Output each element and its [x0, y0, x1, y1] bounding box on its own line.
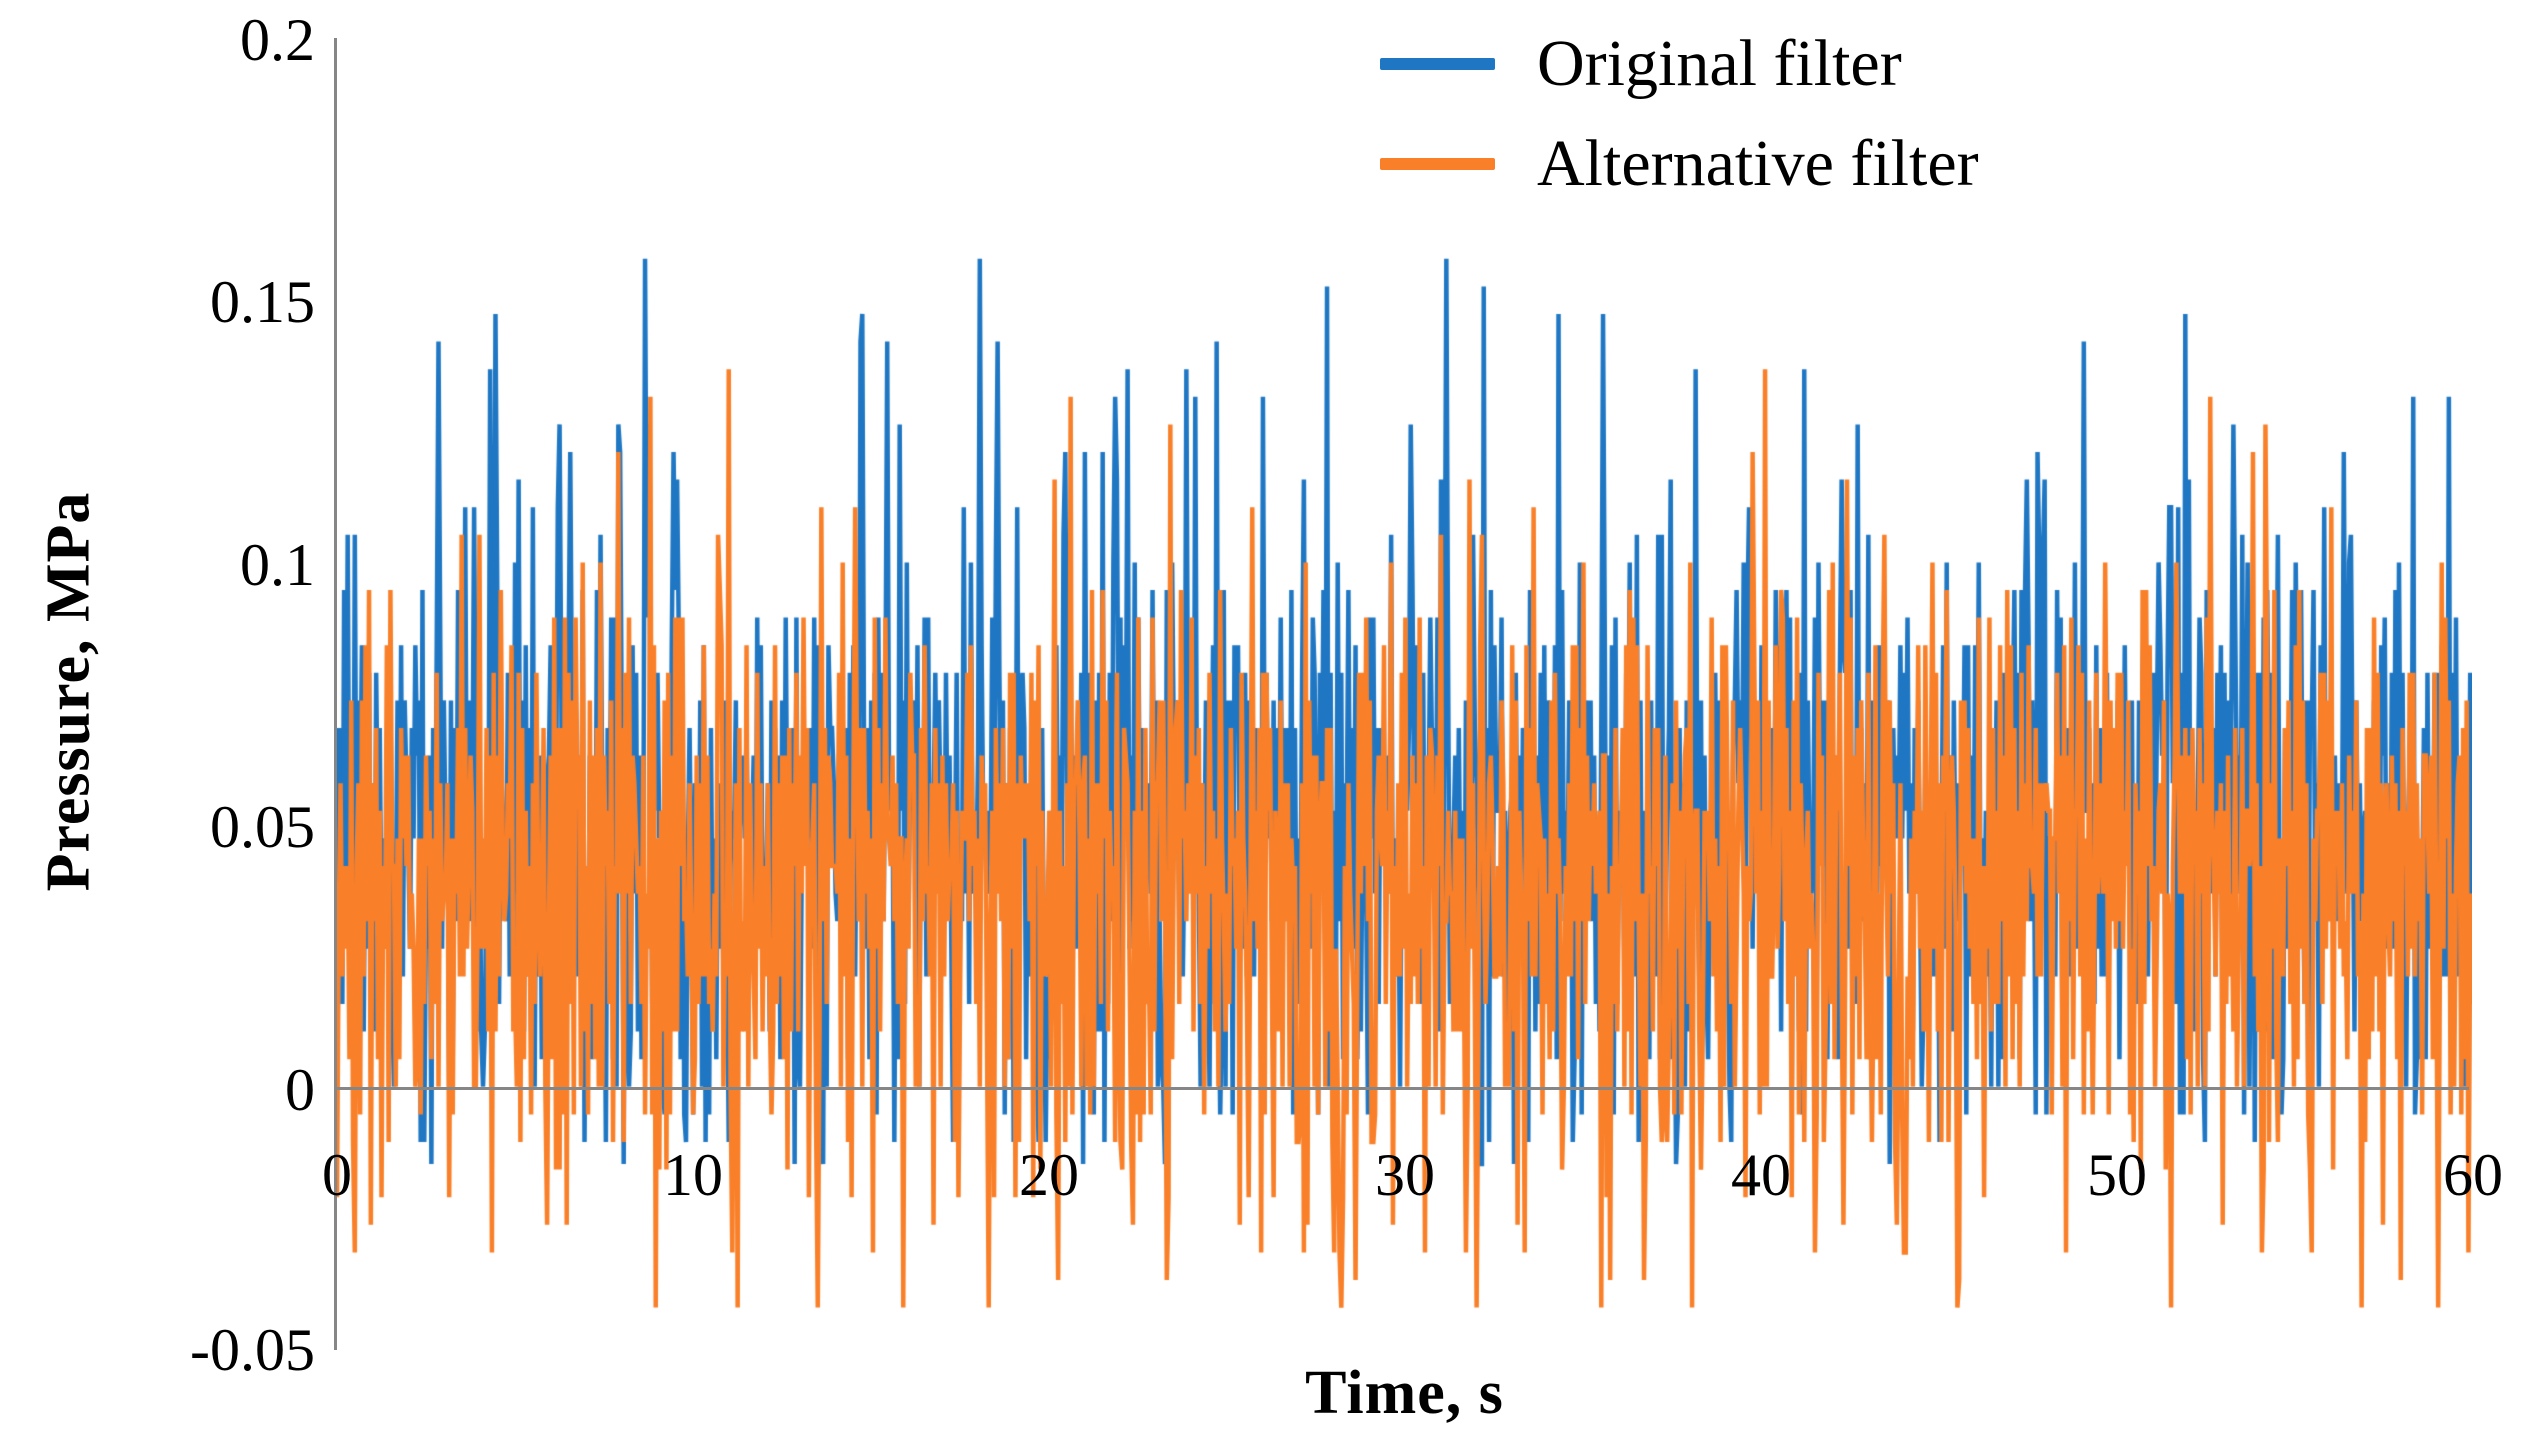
x-axis-tick-label: 10: [593, 1140, 793, 1210]
chart-legend: Original filter Alternative filter: [1380, 14, 1979, 214]
x-axis-tick-label: 40: [1661, 1140, 1861, 1210]
chart-page: 0.2 0.15 0.1 0.05 0 -0.05 0 10 20 30 40 …: [0, 0, 2541, 1455]
x-axis-title: Time, s: [337, 1358, 2472, 1429]
legend-label-original-filter: Original filter: [1537, 31, 1902, 97]
y-axis-tick-label: -0.05: [15, 1320, 315, 1380]
x-axis-tick-label: 50: [2017, 1140, 2217, 1210]
chart-plot-area: [337, 38, 2472, 1418]
x-axis-tick-label: 20: [949, 1140, 1149, 1210]
legend-item-original-filter[interactable]: Original filter: [1380, 14, 1979, 114]
legend-item-alternative-filter[interactable]: Alternative filter: [1380, 114, 1979, 214]
legend-label-alternative-filter: Alternative filter: [1537, 131, 1979, 197]
x-axis-tick-label: 30: [1305, 1140, 1505, 1210]
x-axis-line: [334, 1087, 2469, 1090]
y-axis-tick-label: 0.2: [15, 10, 315, 70]
x-axis-tick-label: 0: [237, 1140, 437, 1210]
y-axis-title: Pressure, MPa: [34, 312, 105, 1072]
x-axis-tick-label: 60: [2373, 1140, 2541, 1210]
legend-swatch-alternative-filter: [1380, 158, 1495, 170]
legend-swatch-original-filter: [1380, 58, 1495, 70]
